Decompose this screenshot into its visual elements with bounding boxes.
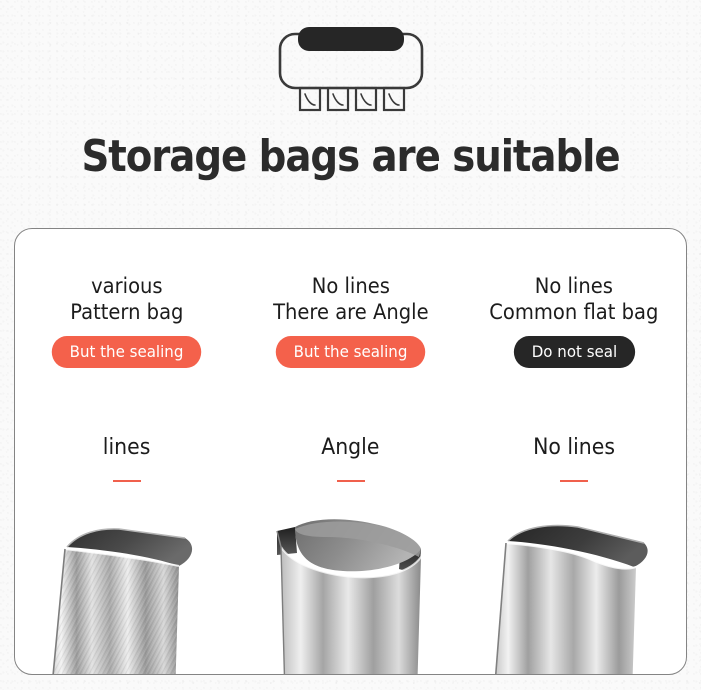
- bag-type-3-line2: Common flat bag: [470, 299, 678, 325]
- textured-silver-bag-image: [27, 497, 227, 675]
- sealer-machine-icon: [0, 22, 701, 112]
- bag-type-cell-3: No lines Common flat bag: [462, 273, 686, 325]
- bag-photo-row: [15, 497, 686, 675]
- bag-type-2: No lines There are Angle: [247, 273, 455, 325]
- bag-type-cell-1: various Pattern bag: [15, 273, 239, 325]
- gusseted-silver-bag-image: [251, 497, 451, 675]
- bag-type-1: various Pattern bag: [23, 273, 231, 325]
- bag-photo-cell-3: [462, 497, 686, 675]
- bag-type-cell-2: No lines There are Angle: [239, 273, 463, 325]
- bag-type-1-line2: Pattern bag: [23, 299, 231, 325]
- bag-photo-cell-2: [239, 497, 463, 675]
- flat-silver-bag-image: [474, 497, 674, 675]
- badge-cell-1: But the sealing: [15, 336, 239, 368]
- bag-type-row: various Pattern bag No lines There are A…: [15, 273, 686, 325]
- bag-type-3: No lines Common flat bag: [470, 273, 678, 325]
- bag-type-2-line2: There are Angle: [247, 299, 455, 325]
- feature-label-3: No lines: [533, 435, 615, 460]
- status-badge-1: But the sealing: [52, 336, 201, 368]
- bag-type-1-line1: various: [23, 273, 231, 299]
- feature-cell-2: Angle: [239, 435, 463, 482]
- feature-rule-2: [337, 480, 365, 482]
- bag-type-2-line1: No lines: [247, 273, 455, 299]
- comparison-card: various Pattern bag No lines There are A…: [14, 228, 687, 675]
- feature-label-1: lines: [103, 435, 151, 460]
- feature-cell-3: No lines: [462, 435, 686, 482]
- badge-row: But the sealing But the sealing Do not s…: [15, 336, 686, 368]
- sealer-machine-glyph: [276, 22, 426, 112]
- bag-type-3-line1: No lines: [470, 273, 678, 299]
- feature-cell-1: lines: [15, 435, 239, 482]
- bag-photo-cell-1: [15, 497, 239, 675]
- feature-rule-1: [113, 480, 141, 482]
- status-badge-2: But the sealing: [276, 336, 425, 368]
- feature-label-2: Angle: [321, 435, 379, 460]
- badge-cell-3: Do not seal: [462, 336, 686, 368]
- badge-cell-2: But the sealing: [239, 336, 463, 368]
- page-title: Storage bags are suitable: [42, 131, 659, 182]
- feature-row: lines Angle No lines: [15, 435, 686, 482]
- status-badge-3: Do not seal: [514, 336, 635, 368]
- feature-rule-3: [560, 480, 588, 482]
